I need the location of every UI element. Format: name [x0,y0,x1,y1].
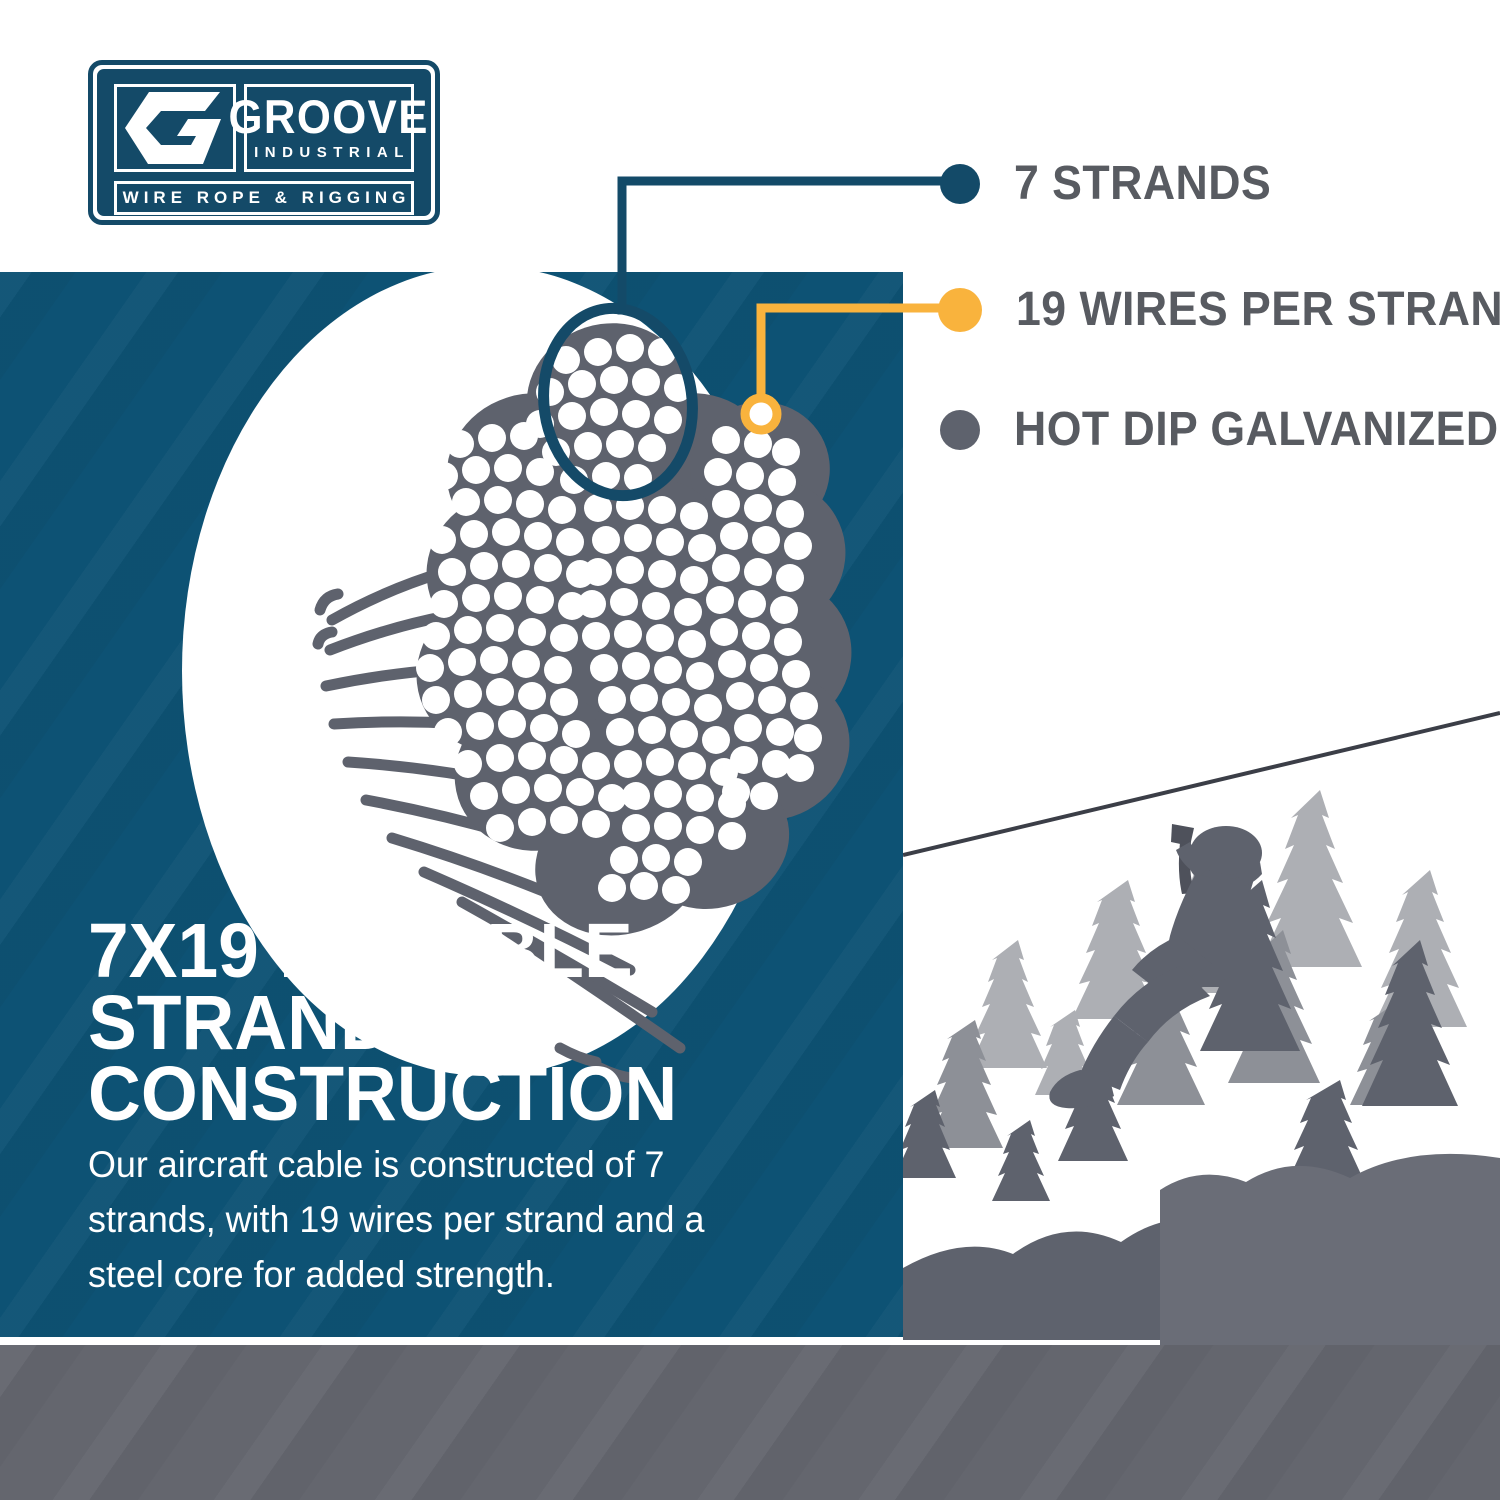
callout-7-strands[interactable]: 7 STRANDS [940,160,1291,208]
gray-dot-icon [940,410,980,450]
body-paragraph: Our aircraft cable is constructed of 7 s… [88,1138,767,1302]
headline-line-2: STRAND CONSTRUCTION [88,988,839,1131]
callout-19-wires-per-strand[interactable]: 19 WIRES PER STRAND [938,286,1500,334]
amber-dot-icon [938,288,982,332]
infographic-canvas: GROOVE INDUSTRIAL WIRE ROPE & RIGGING [0,0,1500,1500]
single-wire-ring [745,398,777,430]
bottom-gray-band [0,1345,1500,1500]
callout-label: HOT DIP GALVANIZED [1014,406,1499,454]
callout-label: 7 STRANDS [1014,160,1271,208]
navy-dot-icon [940,164,980,204]
amber-leader-line [761,308,952,414]
navy-leader-line [622,181,950,310]
callout-label: 19 WIRES PER STRAND [1016,286,1500,334]
callout-hot-dip-galvanized[interactable]: HOT DIP GALVANIZED [940,406,1500,454]
page-title: 7X19 FLEXIBLE STRAND CONSTRUCTION [88,916,839,1131]
